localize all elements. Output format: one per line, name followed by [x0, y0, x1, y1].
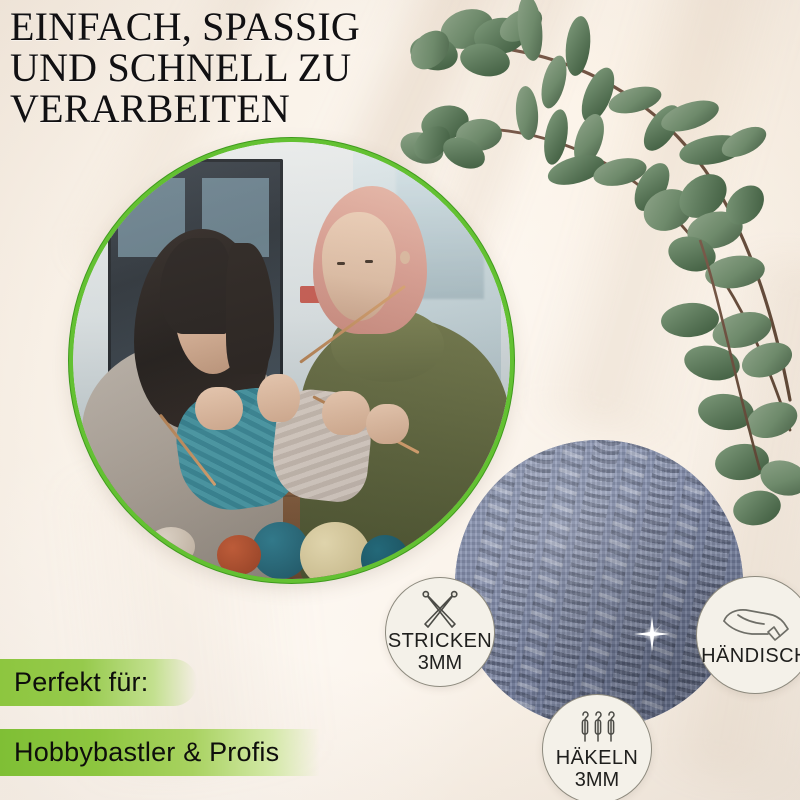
- photo-yarn-ball: [361, 535, 409, 579]
- lifestyle-photo-circle: [73, 142, 510, 579]
- badge-haekeln[interactable]: HÄKELN 3MM: [542, 694, 652, 800]
- photo-hand: [195, 387, 243, 431]
- badge-label: STRICKEN: [388, 630, 492, 652]
- badge-stricken[interactable]: STRICKEN 3MM: [385, 577, 495, 687]
- headline: EINFACH, SPASSIG UND SCHNELL ZU VERARBEI…: [10, 6, 440, 129]
- background-shadow-band: [526, 0, 800, 450]
- photo-yarn-ball: [147, 527, 195, 566]
- headline-line-3: VERARBEITEN: [10, 88, 440, 129]
- photo-yarn-ball: [300, 522, 370, 579]
- photo-inner: [73, 142, 510, 579]
- knitting-needles-icon: [415, 590, 465, 630]
- banner-audience-label: Hobbybastler & Profis: [0, 737, 279, 768]
- badge-label: HÄNDISCH: [701, 645, 800, 667]
- photo-hand: [322, 391, 370, 435]
- crochet-hooks-icon: [572, 707, 622, 747]
- photo-hand: [257, 374, 301, 422]
- badge-sublabel: 3MM: [575, 769, 619, 791]
- photo-yarn-ball: [217, 535, 261, 574]
- banner-perfekt-label: Perfekt für:: [0, 667, 148, 698]
- photo-hand: [366, 404, 410, 443]
- badge-label: HÄKELN: [556, 747, 638, 769]
- headline-line-1: EINFACH, SPASSIG: [10, 6, 440, 47]
- badge-sublabel: 3MM: [418, 652, 462, 674]
- headline-line-2: UND SCHNELL ZU: [10, 47, 440, 88]
- open-hand-icon: [718, 603, 792, 645]
- photo-person-left-hair-front: [160, 238, 230, 334]
- banner-perfekt-fuer: Perfekt für:: [0, 659, 197, 706]
- banner-audience: Hobbybastler & Profis: [0, 729, 320, 776]
- photo-person-right-ear: [400, 251, 410, 264]
- infographic-canvas: EINFACH, SPASSIG UND SCHNELL ZU VERARBEI…: [0, 0, 800, 800]
